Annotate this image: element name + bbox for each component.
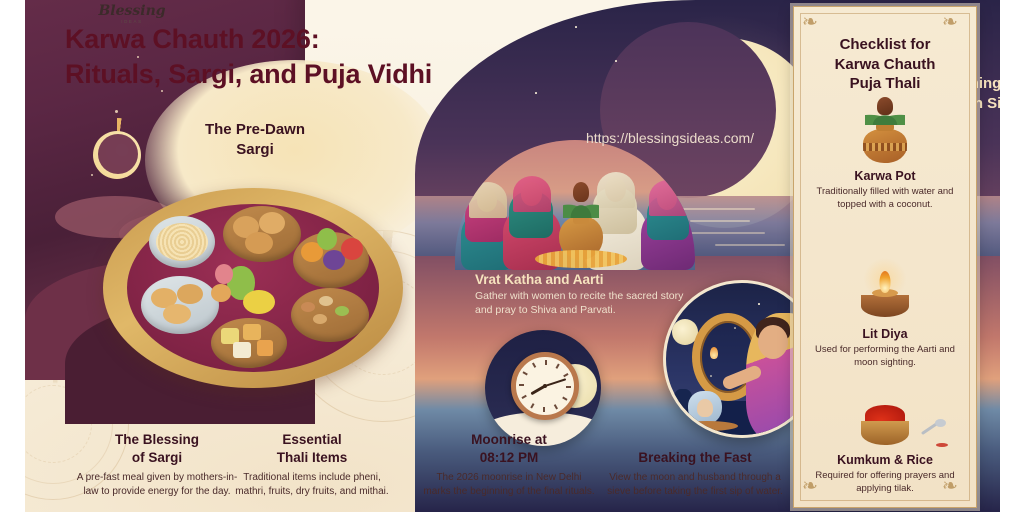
footer-body: Traditional items include pheni, mathri,…	[227, 471, 397, 498]
women-puja-scene-icon	[455, 140, 695, 270]
vrat-katha-heading: Vrat Katha and Aarti	[475, 272, 690, 287]
pre-dawn-heading: The Pre-Dawn Sargi	[160, 120, 350, 159]
checklist-item-name: Lit Diya	[804, 327, 966, 341]
footer-heading-line1: Breaking the Fast	[605, 449, 785, 466]
checklist-title-line2: Karwa Chauth	[804, 55, 966, 75]
footer-item-blessing-of-sargi: The Blessing of Sargi A pre-fast meal gi…	[73, 431, 241, 498]
checklist-item-name: Karwa Pot	[804, 169, 966, 183]
lit-diya-icon	[804, 269, 966, 323]
brand-logo-text: Blessing	[77, 4, 187, 18]
sun-crescent-icon	[80, 118, 154, 192]
footer-item-moonrise: Moonrise at 08:12 PM The 2026 moonrise i…	[423, 431, 595, 498]
footer-heading-line2: of Sargi	[73, 449, 241, 466]
footer-heading-line1: Essential	[227, 431, 397, 448]
footer-heading-line2: Thali Items	[227, 449, 397, 466]
pre-dawn-heading-line1: The Pre-Dawn	[160, 120, 350, 140]
kumkum-rice-bowl-icon	[804, 395, 966, 449]
vrat-katha-body: Gather with women to recite the sacred s…	[475, 290, 690, 318]
checklist-item-desc: Traditionally filled with water and topp…	[804, 186, 966, 211]
karwa-pot-icon	[804, 111, 966, 165]
checklist-title: Checklist for Karwa Chauth Puja Thali	[804, 35, 966, 94]
lota-icon	[688, 391, 722, 425]
checklist-title-line1: Checklist for	[804, 35, 966, 55]
pheni-bowl	[149, 216, 215, 268]
footer-body: View the moon and husband through a siev…	[605, 471, 785, 498]
clock-icon	[485, 330, 601, 446]
checklist-item-desc: Required for offering prayers and applyi…	[804, 470, 966, 495]
checklist-panel: ❧ ❧ ❧ ❧ Checklist for Karwa Chauth Puja …	[793, 6, 977, 508]
mathri-plate	[141, 276, 219, 334]
website-url[interactable]: https://blessingsideas.com/	[530, 130, 810, 146]
footer-body: The 2026 moonrise in New Delhi marks the…	[423, 471, 595, 498]
checklist-item-lit-diya[interactable]: Lit Diya Used for performing the Aarti a…	[804, 269, 966, 369]
checklist-item-kumkum-rice[interactable]: Kumkum & Rice Required for offering pray…	[804, 395, 966, 495]
fruits-bowl	[293, 232, 369, 288]
mithai-bowl	[211, 318, 287, 368]
infographic-poster: Blessing IDEAS Karwa Chauth 2026: Ritual…	[25, 0, 1000, 512]
sargi-thali-icon	[103, 188, 403, 388]
footer-heading-line1: The Blessing	[73, 431, 241, 448]
marigold-garland	[535, 250, 627, 268]
footer-item-essential-thali-items: Essential Thali Items Traditional items …	[227, 431, 397, 498]
page-title-line1: Karwa Chauth 2026:	[65, 22, 535, 57]
vrat-katha-block: Vrat Katha and Aarti Gather with women t…	[475, 272, 690, 318]
footer-heading-line1: Moonrise at	[423, 431, 595, 448]
checklist-title-line3: Puja Thali	[804, 74, 966, 94]
footer-body: A pre-fast meal given by mothers-in-law …	[73, 471, 241, 498]
checklist-item-desc: Used for performing the Aarti and moon s…	[804, 344, 966, 369]
checklist-item-name: Kumkum & Rice	[804, 453, 966, 467]
pre-dawn-heading-line2: Sargi	[160, 140, 350, 160]
dry-fruits-bowl	[291, 288, 369, 342]
footer-item-breaking-the-fast: Breaking the Fast View the moon and husb…	[605, 449, 785, 498]
woman-figure	[641, 180, 695, 270]
footer-heading-line2: 08:12 PM	[423, 449, 595, 466]
mathri-bowl	[223, 206, 301, 262]
checklist-item-karwa-pot[interactable]: Karwa Pot Traditionally filled with wate…	[804, 111, 966, 211]
